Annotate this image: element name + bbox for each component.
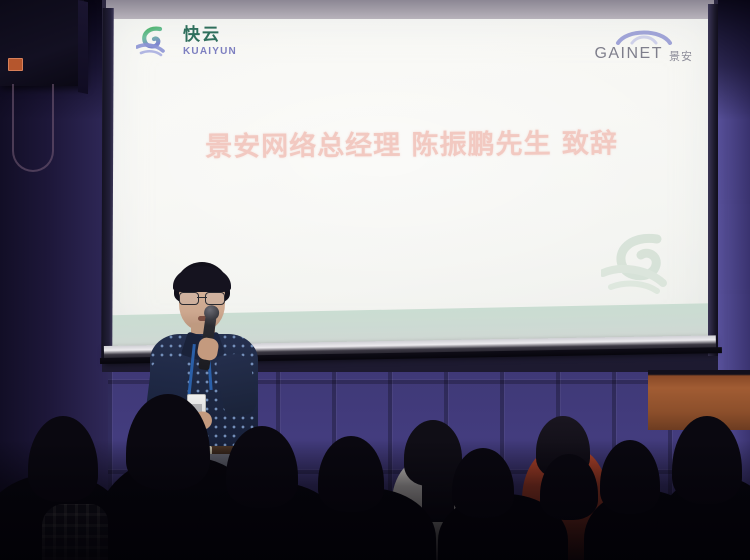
screen-right-border — [708, 4, 718, 356]
audience — [0, 350, 750, 560]
glasses-icon — [179, 292, 225, 303]
gainet-logo: GAINET 景安 — [594, 27, 693, 62]
gainet-latin: GAINET — [594, 46, 663, 62]
arc-icon — [615, 27, 673, 45]
kuaiyun-chinese: 快云 — [183, 25, 221, 45]
screen-left-border — [101, 8, 114, 358]
audience-head — [126, 394, 210, 490]
audience-head — [672, 416, 742, 504]
audience-head — [600, 440, 660, 514]
screen-top-strip — [106, 0, 714, 19]
kuaiyun-watermark — [601, 229, 687, 299]
speaker-label-sticker — [8, 58, 23, 71]
hanging-cable — [12, 84, 54, 172]
audience-head — [28, 416, 98, 502]
kuaiyun-logo: 快云 KUAIYUN — [136, 25, 237, 59]
audience-plaid-garment — [42, 504, 108, 560]
presentation-photo: 快云 KUAIYUN GAINET 景安 景安网络总经理 陈振鹏先生 致辞 — [0, 0, 750, 560]
cloud-swirl-icon — [136, 25, 176, 59]
gainet-chinese: 景安 — [669, 51, 693, 62]
kuaiyun-wordmark: 快云 KUAIYUN — [183, 27, 237, 57]
slide-title: 景安网络总经理 陈振鹏先生 致辞 — [112, 120, 711, 164]
kuaiyun-latin: KUAIYUN — [183, 47, 237, 57]
audience-head — [226, 426, 298, 508]
ceiling-speaker — [0, 0, 84, 86]
audience-head — [452, 448, 514, 518]
audience-head — [318, 436, 384, 512]
